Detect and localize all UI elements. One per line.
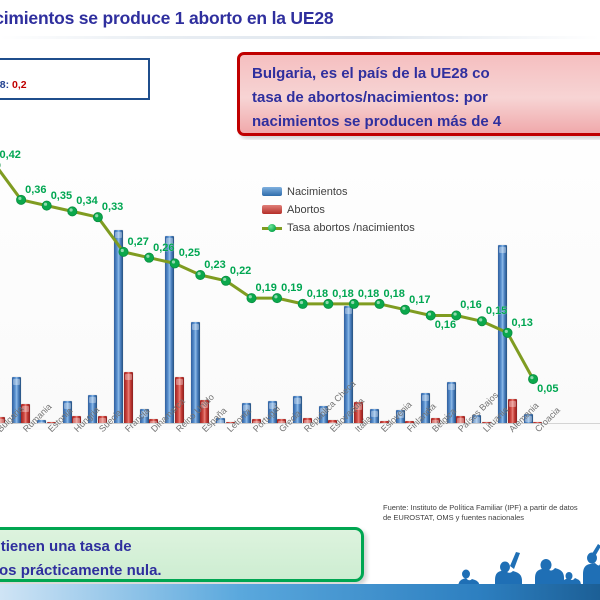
rate-point-label: 0,26 (153, 242, 174, 254)
rate-point-label: 0,36 (25, 184, 46, 196)
legend-label-nacimientos: Nacimientos (287, 186, 348, 198)
chart-x-axis-labels: BulgariaRumaniaEstoniaHungriaSueciaFranc… (0, 425, 600, 505)
callout-bulgaria: Bulgaria, es el país de la UE28 co tasa … (237, 52, 600, 136)
rate-point-label: 0,18 (358, 288, 379, 300)
title-divider (0, 36, 600, 39)
legend-line-marker-icon (262, 223, 282, 232)
rate-point-label: 0,19 (281, 282, 302, 294)
rate-point-label: 0,16 (460, 299, 481, 311)
rate-point-label: 0,19 (256, 282, 277, 294)
legend-label-abortos: Abortos (287, 204, 325, 216)
callout-red-line3: nacimientos se producen más de 4 (252, 110, 600, 134)
legend-item-abortos: Abortos (262, 202, 415, 217)
rate-point-label: 0,25 (179, 247, 200, 259)
callout-green-line1: y Croacia tienen una tasa de (0, 535, 351, 559)
callout-green-line2: nacimientos prácticamente nula. (0, 559, 351, 583)
rate-point-label: 0,23 (204, 259, 225, 271)
legend-item-tasa: Tasa abortos /nacimientos (262, 220, 415, 235)
rate-point-label: 0,17 (409, 294, 430, 306)
callout-red-line2: tasa de abortos/nacimientos: por (252, 86, 600, 110)
rate-point-label: 0,18 (332, 288, 353, 300)
rate-point-label: 0,05 (537, 383, 558, 395)
info-box-line1: 2015 (UE28) (0, 64, 142, 76)
chart-legend: Nacimientos Abortos Tasa abortos /nacimi… (262, 184, 415, 238)
rate-point-label: 0,22 (230, 265, 251, 277)
info-box-line2-value: 0,2 (12, 79, 27, 91)
legend-swatch-abortions-icon (262, 205, 282, 214)
rate-point-label: 0,33 (102, 201, 123, 213)
legend-label-tasa: Tasa abortos /nacimientos (287, 222, 415, 234)
rate-point-label: 0,15 (486, 305, 507, 317)
page-title: 5 nacimientos se produce 1 aborto en la … (0, 8, 520, 29)
rate-point-label: 0,42 (0, 149, 21, 161)
rate-point-label: 0,34 (76, 195, 97, 207)
rate-point-label: 0,27 (128, 236, 149, 248)
callout-red-line1: Bulgaria, es el país de la UE28 co (252, 62, 600, 86)
bottom-decorative-band (0, 584, 600, 600)
info-box: 2015 (UE28) Nacimientos UE28: 0,2 (0, 58, 150, 100)
source-note: Fuente: Instituto de Política Familiar (… (383, 503, 588, 522)
rate-point-label: 0,18 (384, 288, 405, 300)
info-box-line2-prefix: Nacimientos UE28: (0, 79, 12, 91)
rate-point-label: 0,35 (51, 190, 72, 202)
rate-point-label: 0,16 (435, 319, 456, 331)
slide: 5 nacimientos se produce 1 aborto en la … (0, 0, 600, 600)
legend-swatch-births-icon (262, 187, 282, 196)
legend-item-nacimientos: Nacimientos (262, 184, 415, 199)
info-box-line2: Nacimientos UE28: 0,2 (0, 79, 142, 91)
callout-croacia: y Croacia tienen una tasa de nacimientos… (0, 527, 364, 582)
rate-point-label: 0,13 (512, 317, 533, 329)
rate-point-label: 0,18 (307, 288, 328, 300)
